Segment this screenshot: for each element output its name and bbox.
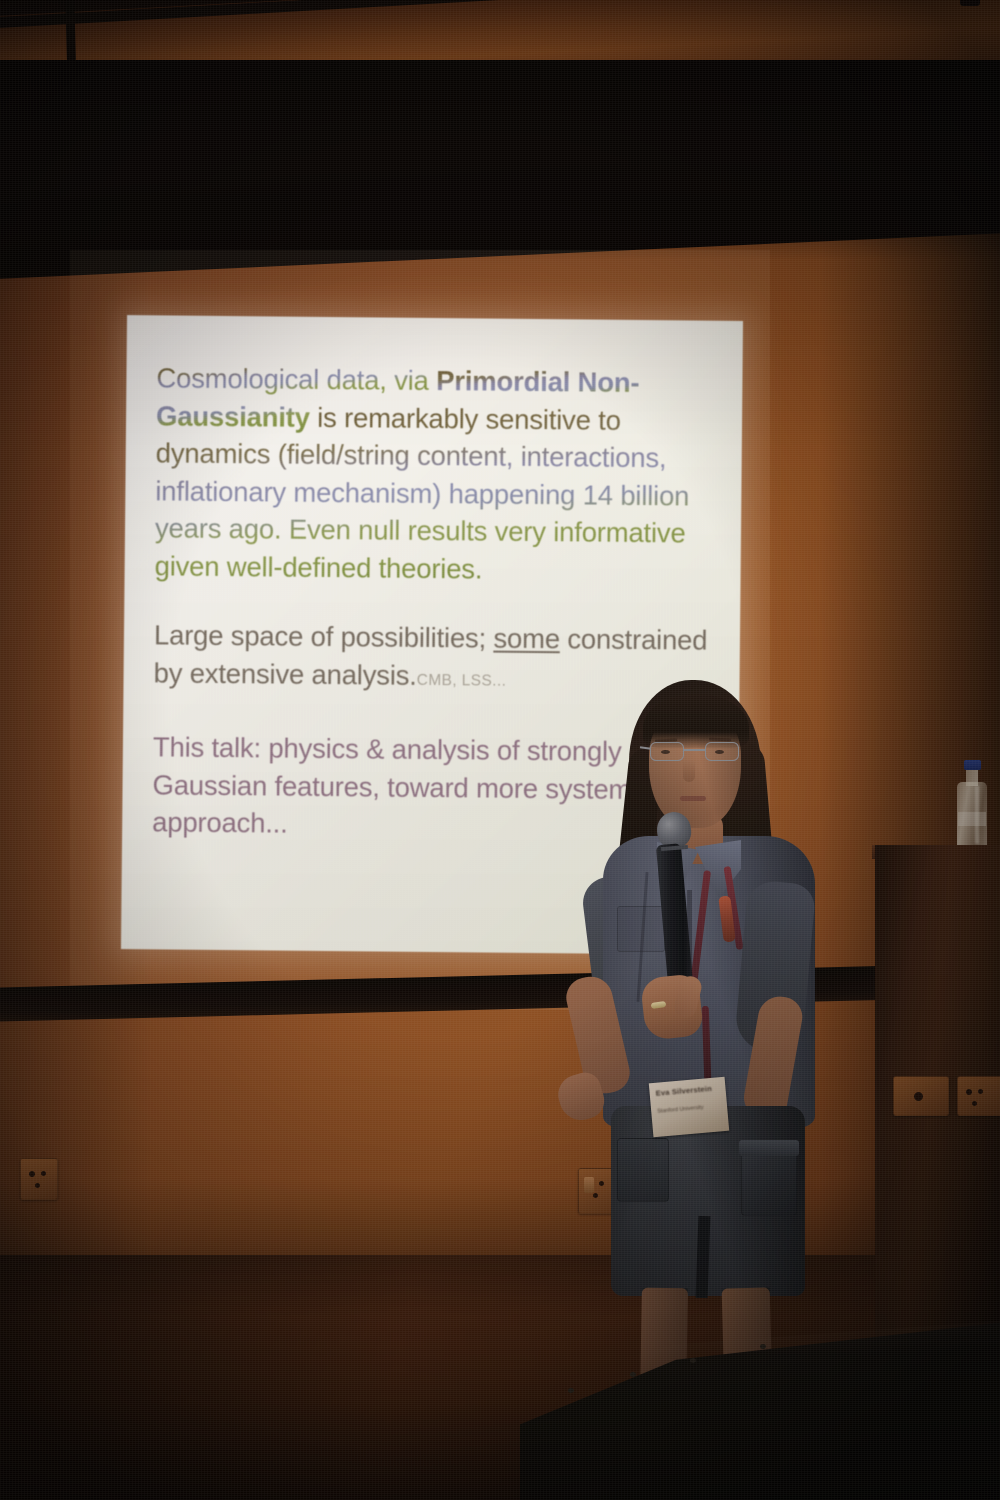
presenter: Eva Silverstein Stanford University — [545, 676, 845, 1376]
slide-p2-run-1: Large space of possibilities; — [154, 619, 494, 653]
wall-socket-left[interactable] — [20, 1158, 58, 1200]
bottle-neck — [966, 768, 978, 786]
glasses-lens-right — [705, 742, 739, 761]
cargo-pocket-right — [741, 1146, 797, 1216]
nose — [683, 760, 695, 782]
badge-organization-text: Stanford University — [657, 1103, 722, 1115]
badge-name-text: Eva Silverstein — [655, 1083, 721, 1098]
glasses-bridge — [684, 749, 705, 751]
podium-socket-2[interactable] — [957, 1076, 1000, 1116]
bottle-highlight — [975, 786, 979, 844]
slide-paragraph-1: Cosmological data, via Primordial Non-Ga… — [154, 359, 716, 589]
cargo-pocket-flap — [739, 1140, 799, 1156]
ceiling-pipe-vertical — [65, 0, 76, 62]
stage-stud — [568, 1388, 574, 1393]
stage-stud — [690, 1358, 696, 1363]
stage-stud — [630, 1372, 636, 1377]
name-badge: Eva Silverstein Stanford University — [649, 1077, 729, 1137]
slide-p2-footnote: CMB, LSS... — [417, 671, 507, 689]
socket-hole — [35, 1183, 40, 1188]
socket-hole — [966, 1089, 972, 1095]
podium-socket-1[interactable] — [893, 1076, 949, 1116]
socket-hole — [978, 1089, 983, 1094]
slide-p2-run-underlined: some — [493, 623, 560, 655]
cargo-pocket-left — [617, 1138, 669, 1202]
photograph-scene: Cosmological data, via Primordial Non-Ga… — [0, 0, 1000, 1500]
socket-hole — [29, 1171, 35, 1177]
socket-hole — [972, 1101, 977, 1106]
bottle-cap[interactable] — [964, 760, 981, 770]
socket-hole — [41, 1171, 46, 1176]
bottle-label — [958, 812, 986, 826]
socket-hole — [914, 1092, 923, 1101]
ceiling-gradient-overlay — [0, 60, 1000, 260]
stage-stud — [760, 1344, 766, 1349]
glasses-lens-left — [650, 742, 684, 761]
water-bottle[interactable] — [955, 760, 989, 850]
podium-shading — [875, 845, 1000, 1405]
slide-p1-run-1: Cosmological data, via — [156, 362, 436, 396]
mouth — [680, 796, 706, 801]
glasses-icon — [649, 742, 743, 762]
ceiling-pipe-clamp — [960, 0, 980, 6]
